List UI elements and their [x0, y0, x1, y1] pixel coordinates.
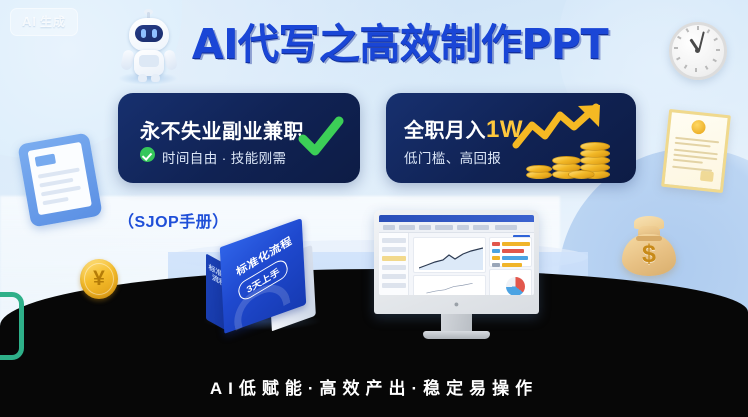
robot-arm-left	[120, 49, 135, 71]
robot-leg-right	[151, 74, 160, 82]
screen-bar-list-card	[489, 237, 532, 267]
document-page	[28, 142, 92, 215]
screen-pie-chart	[506, 277, 525, 295]
page-title: AI代写之高效制作PPT	[192, 24, 608, 65]
screen-line-chart-card	[413, 237, 486, 273]
clock-tick	[697, 26, 699, 30]
robot-chest-panel	[139, 55, 159, 67]
card-right-subtext: 低门槛、高回报	[404, 147, 501, 167]
screen-secondary-chart	[417, 282, 482, 295]
apple-logo-icon: ●	[453, 300, 460, 308]
feature-card-right: 全职月入1W 低门槛、高回报	[386, 93, 636, 183]
robot-eye-left	[141, 29, 146, 38]
standard-process-book: 标准化流程 标准化流程 3天上手	[198, 226, 326, 334]
certificate-stamp	[700, 171, 714, 182]
clock-center-dot	[695, 48, 700, 53]
coin-yen-glyph: ¥	[80, 259, 118, 299]
feature-card-left: 永不失业副业兼职 时间自由 · 技能刚需	[118, 93, 360, 183]
money-bag-icon: $	[618, 216, 680, 278]
card-right-heading-prefix: 全职月入	[404, 120, 486, 142]
clock-tick	[695, 69, 697, 73]
small-check-icon	[140, 147, 155, 162]
monitor-foot	[423, 331, 490, 339]
robot-visor	[135, 25, 163, 42]
robot-leg-left	[138, 74, 147, 82]
certificate-icon	[661, 109, 731, 193]
document-icon	[17, 132, 102, 227]
wall-clock-icon	[669, 22, 727, 80]
yen-coin-icon: ¥	[80, 259, 118, 299]
robot-mascot-icon	[110, 12, 188, 88]
monitor-screen	[379, 215, 534, 295]
check-mark-icon	[298, 115, 344, 159]
screen-ribbon	[379, 222, 534, 233]
robot-arm-right	[163, 49, 178, 71]
screen-secondary-chart-card	[413, 275, 486, 295]
card-left-heading: 永不失业副业兼职	[140, 115, 304, 144]
gold-coins-icon	[522, 131, 628, 179]
card-right-heading: 全职月入1W	[404, 114, 523, 144]
screen-line-chart	[419, 247, 483, 270]
screen-pie-chart-card	[489, 269, 532, 295]
bottom-tagline: AI低赋能·高效产出·稳定易操作	[0, 374, 748, 399]
ai-watermark-sub: 生成	[40, 13, 66, 30]
robot-eye-right	[152, 29, 157, 38]
clock-tick	[674, 47, 678, 49]
money-bag-dollar-glyph: $	[618, 240, 680, 269]
ai-watermark-label: AI	[22, 14, 37, 29]
poster-canvas: AI 生成 AI代写之高效制作PPT 永不失业副业兼职 时间自由 · 技能刚需 …	[0, 0, 748, 417]
imac-monitor: ●	[374, 210, 539, 345]
ai-watermark-badge: AI 生成	[10, 8, 78, 36]
green-bracket-shape	[0, 292, 24, 360]
screen-sidebar	[379, 233, 409, 295]
card-left-subtext: 时间自由 · 技能刚需	[162, 147, 286, 167]
screen-titlebar	[379, 215, 534, 222]
clock-tick	[717, 49, 721, 51]
